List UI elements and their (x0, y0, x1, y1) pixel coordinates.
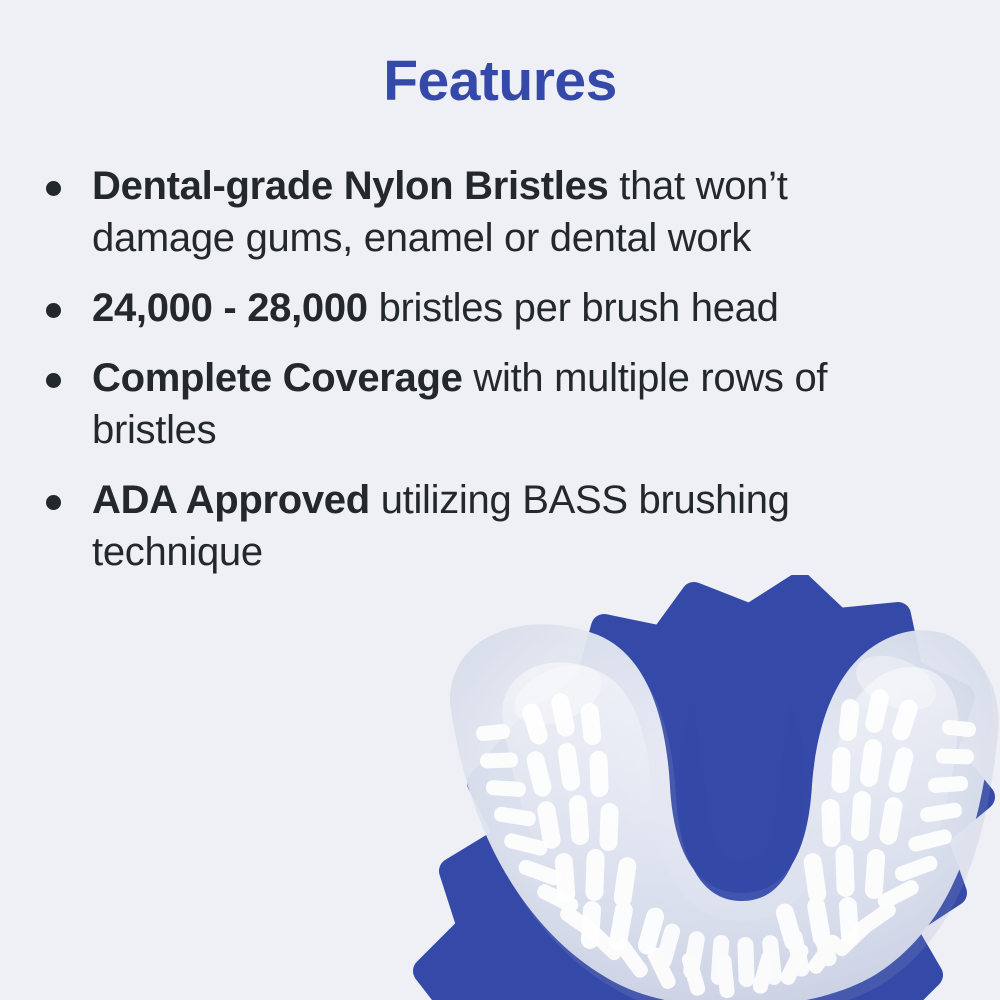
product-artwork (330, 575, 1000, 1000)
bullet-dot-icon (46, 373, 61, 388)
features-list: Dental-grade Nylon Bristles that won’t d… (34, 160, 934, 578)
feature-highlight: Dental-grade Nylon Bristles (92, 164, 608, 208)
list-item: ADA Approved utilizing BASS brushing tec… (34, 474, 934, 578)
bullet-dot-icon (46, 303, 61, 318)
feature-highlight: ADA Approved (92, 478, 370, 522)
feature-highlight: Complete Coverage (92, 356, 463, 400)
feature-highlight: 24,000 - 28,000 (92, 286, 368, 330)
list-item: 24,000 - 28,000 bristles per brush head (34, 282, 934, 334)
bullet-dot-icon (46, 181, 61, 196)
feature-detail: bristles per brush head (368, 286, 779, 330)
bullet-dot-icon (46, 495, 61, 510)
list-item: Complete Coverage with multiple rows of … (34, 352, 934, 456)
feature-card: Features Dental-grade Nylon Bristles tha… (0, 0, 1000, 1000)
page-title: Features (0, 52, 1000, 112)
list-item: Dental-grade Nylon Bristles that won’t d… (34, 160, 934, 264)
